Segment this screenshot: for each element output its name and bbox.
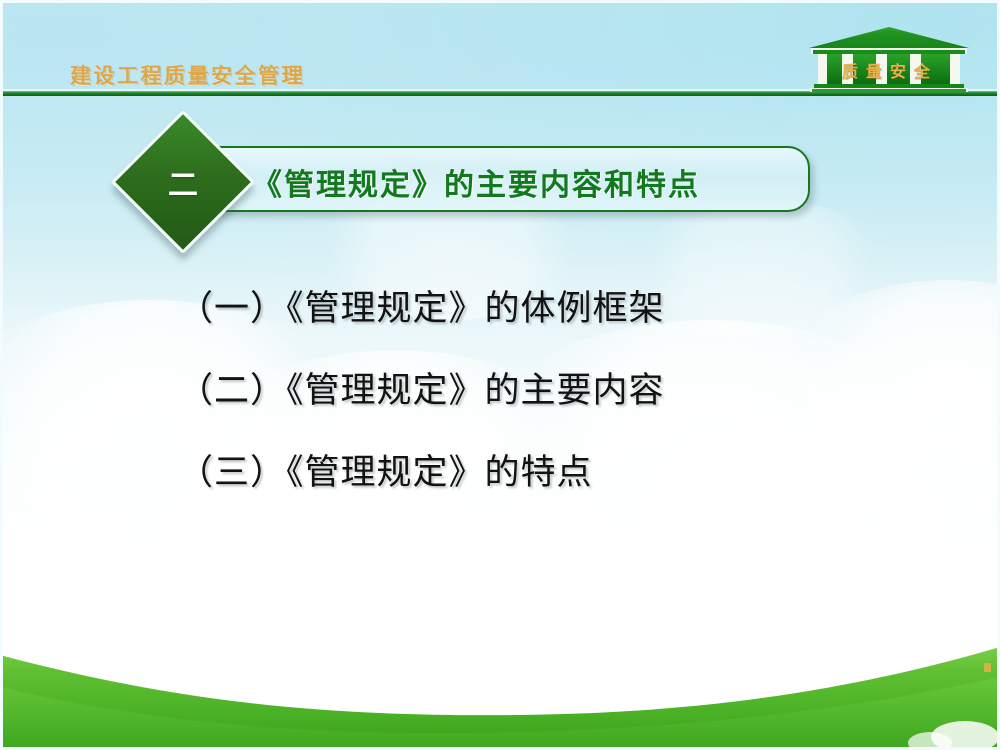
presentation-slide: 建设工程质量安全管理 bbox=[0, 0, 1000, 750]
page-title: 建设工程质量安全管理 bbox=[70, 60, 305, 90]
section-title: 《管理规定》的主要内容和特点 bbox=[252, 160, 792, 204]
outline-list: （一）《管理规定》的体例框架 （二）《管理规定》的主要内容 （三）《管理规定》的… bbox=[178, 292, 938, 538]
list-item: （一）《管理规定》的体例框架 bbox=[178, 292, 938, 327]
quality-safety-building-icon bbox=[806, 26, 972, 94]
list-item: （三）《管理规定》的特点 bbox=[178, 456, 938, 491]
grass-field bbox=[0, 625, 1000, 750]
list-item: （二）《管理规定》的主要内容 bbox=[178, 374, 938, 409]
